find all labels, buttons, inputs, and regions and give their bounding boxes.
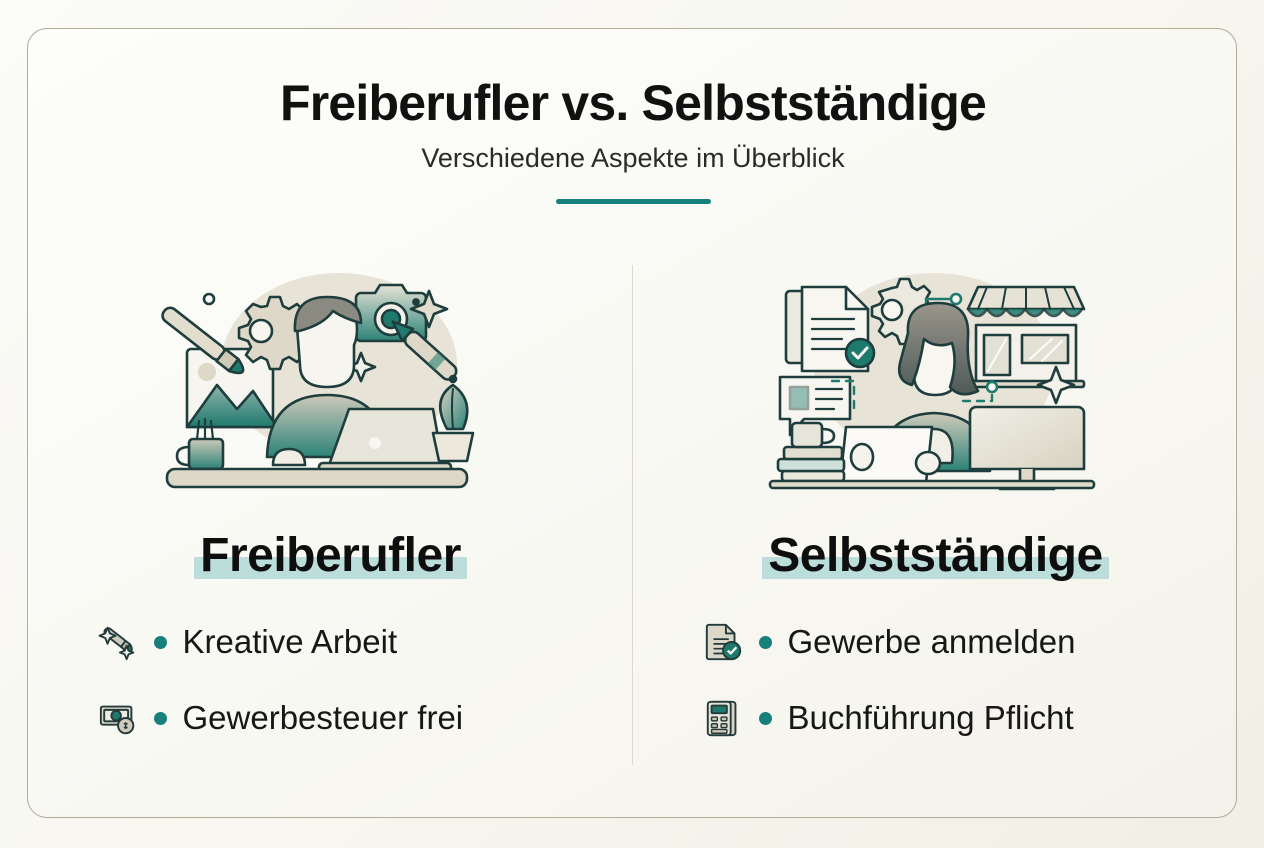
column-freiberufler: Freiberufler — [28, 237, 633, 757]
bullet-dot — [759, 636, 772, 649]
page-subtitle: Verschiedene Aspekte im Überblick — [28, 144, 1238, 174]
accent-divider — [556, 199, 711, 204]
document-check-icon — [701, 619, 747, 665]
banknote-coin-icon — [96, 695, 142, 741]
list-item: Gewerbe anmelden — [701, 619, 1181, 665]
bullet-label: Gewerbe anmelden — [788, 624, 1076, 660]
paintbrush-sparkle-icon — [96, 619, 142, 665]
bullet-list-freiberufler: Kreative Arbeit — [86, 619, 576, 741]
business-owner-at-desk-illustration — [766, 257, 1106, 507]
column-heading-selbststaendige: Selbstständige — [762, 531, 1108, 581]
header: Freiberufler vs. Selbstständige Verschie… — [28, 77, 1238, 204]
column-selbststaendige: Selbstständige — [633, 237, 1238, 757]
infographic-page: Freiberufler vs. Selbstständige Verschie… — [0, 0, 1264, 848]
column-heading-freiberufler: Freiberufler — [194, 531, 467, 581]
bullet-label: Buchführung Pflicht — [788, 700, 1074, 736]
calculator-icon — [701, 695, 747, 741]
list-item: Buchführung Pflicht — [701, 695, 1181, 741]
list-item: Gewerbesteuer frei — [96, 695, 576, 741]
page-title: Freiberufler vs. Selbstständige — [28, 77, 1238, 130]
list-item: Kreative Arbeit — [96, 619, 576, 665]
bullet-label: Gewerbesteuer frei — [183, 700, 464, 736]
bullet-dot — [154, 636, 167, 649]
comparison-columns: Freiberufler — [28, 237, 1238, 757]
creative-freelancer-at-laptop-illustration — [161, 257, 501, 507]
bullet-list-selbststaendige: Gewerbe anmelden — [691, 619, 1181, 741]
bullet-label: Kreative Arbeit — [183, 624, 398, 660]
bullet-dot — [154, 712, 167, 725]
content-card: Freiberufler vs. Selbstständige Verschie… — [27, 28, 1237, 818]
bullet-dot — [759, 712, 772, 725]
